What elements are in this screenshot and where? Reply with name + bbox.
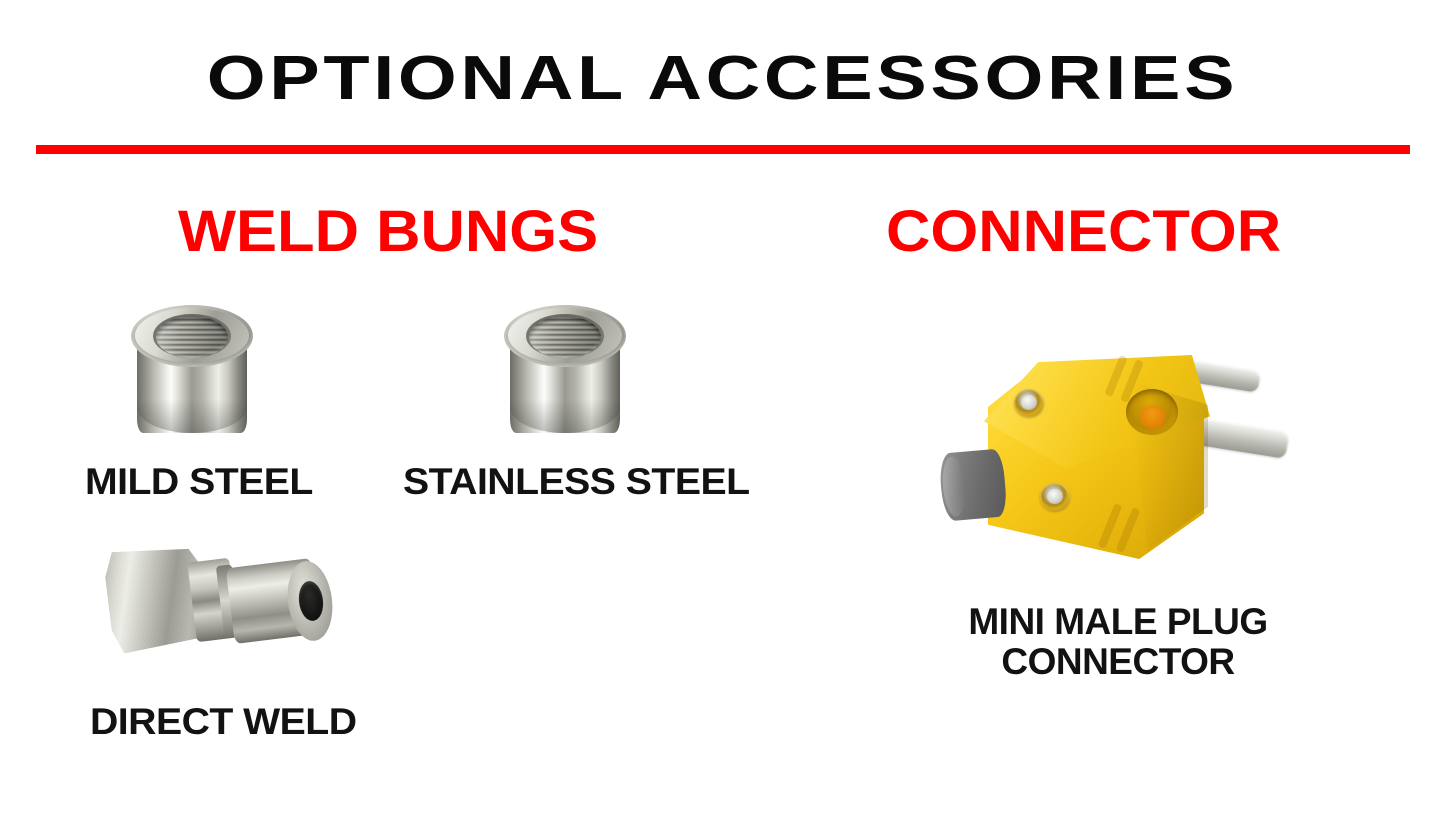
page-title: OPTIONAL ACCESSORIES bbox=[0, 46, 1445, 111]
label-stainless-steel: STAINLESS STEEL bbox=[403, 462, 750, 502]
section-heading-connector: CONNECTOR bbox=[886, 203, 1281, 261]
connector-terminal-screw bbox=[1014, 389, 1044, 417]
label-line-1: MINI MALE PLUG bbox=[936, 602, 1300, 642]
bung-bore-lip bbox=[529, 316, 601, 358]
optional-accessories-graphic: OPTIONAL ACCESSORIES WELD BUNGS CONNECTO… bbox=[0, 0, 1445, 813]
connector-blade-pin-bottom bbox=[1196, 418, 1289, 459]
connector-cable-strain-relief bbox=[938, 448, 1008, 521]
connector-polarity-hole-inner bbox=[1140, 405, 1166, 429]
mini-male-plug-connector-image bbox=[930, 333, 1310, 583]
label-mini-male-plug-connector: MINI MALE PLUG CONNECTOR bbox=[936, 602, 1300, 682]
label-direct-weld: DIRECT WELD bbox=[90, 702, 357, 742]
bung-bore-lip bbox=[156, 316, 228, 358]
label-mild-steel: MILD STEEL bbox=[85, 462, 313, 502]
weld-bung-mild-steel-image bbox=[131, 305, 253, 438]
connector-terminal-screw bbox=[1040, 483, 1070, 511]
label-line-2: CONNECTOR bbox=[936, 642, 1300, 682]
red-divider-rule bbox=[36, 145, 1410, 154]
direct-weld-fitting-image bbox=[108, 541, 333, 656]
section-heading-weld-bungs: WELD BUNGS bbox=[178, 203, 598, 261]
weld-bung-stainless-steel-image bbox=[504, 305, 626, 438]
